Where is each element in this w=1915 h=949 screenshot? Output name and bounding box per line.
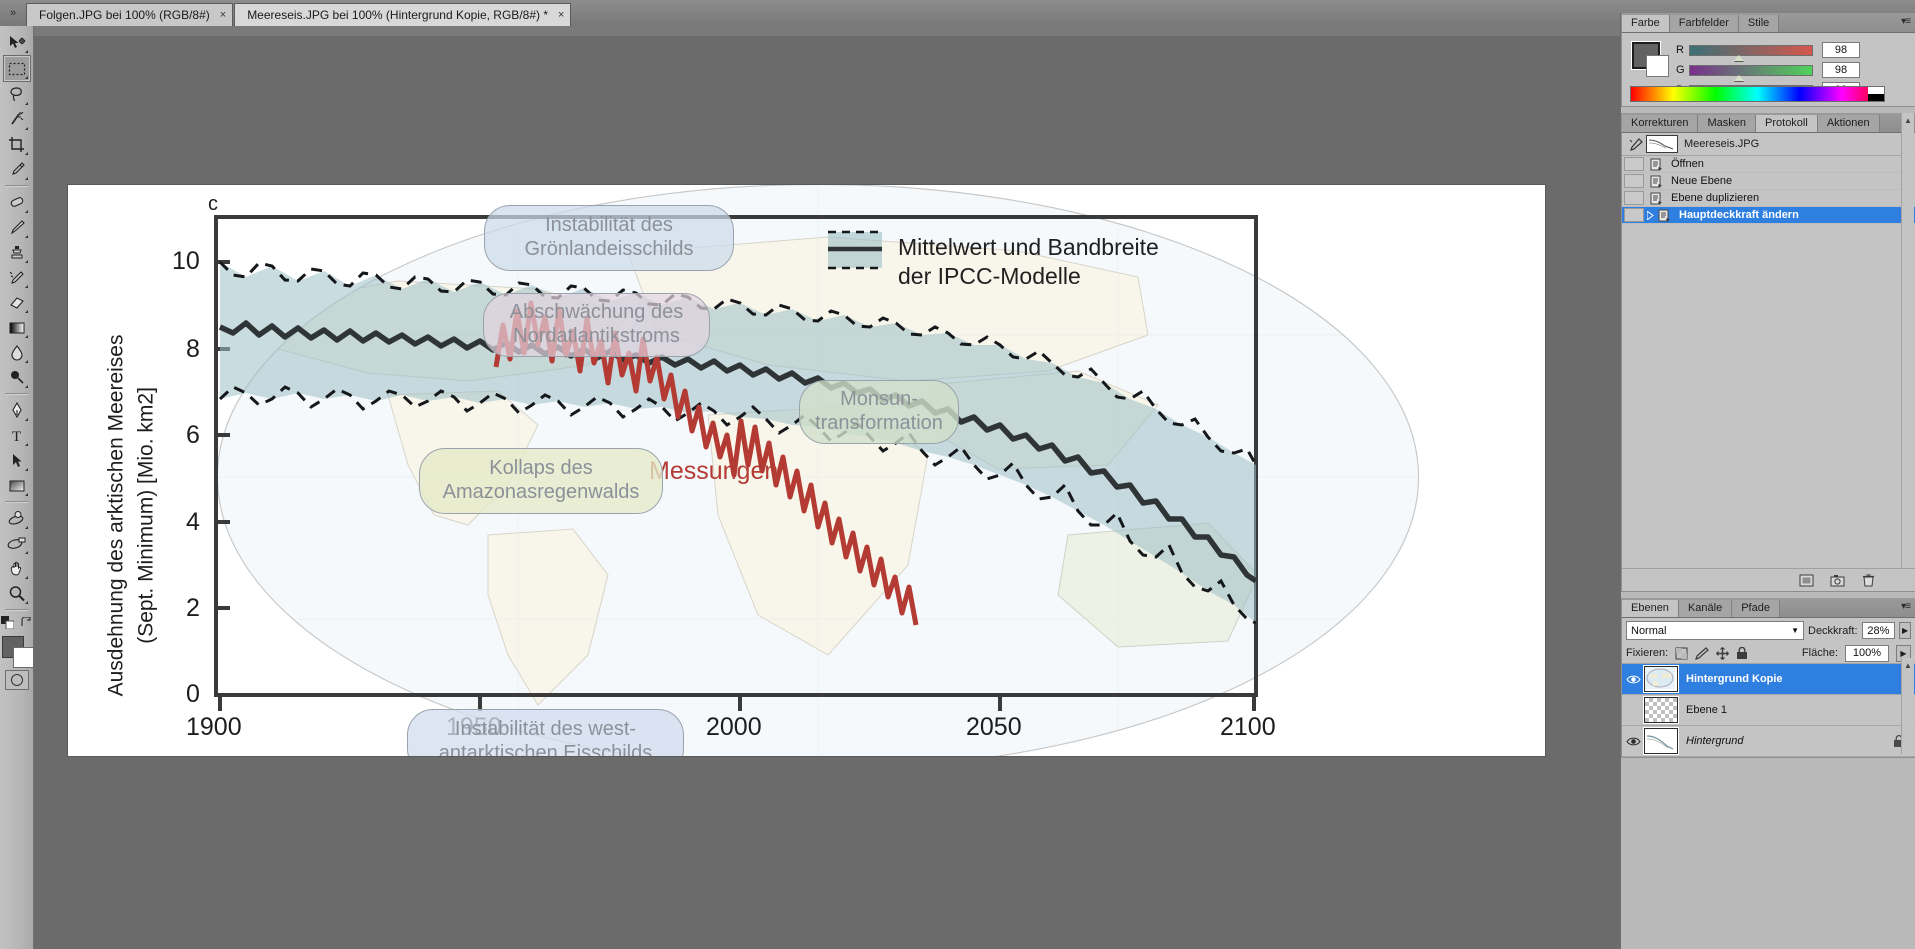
- toolbar-divider: [5, 393, 28, 395]
- y-tick-10: 10: [172, 247, 200, 276]
- x-axis-label: Jahr: [736, 753, 783, 756]
- bubble-line2: Nordatlantikstroms: [510, 325, 683, 349]
- type-tool[interactable]: T: [4, 423, 30, 448]
- lock-image-pixels-icon[interactable]: [1695, 647, 1709, 660]
- lock-transparency-icon[interactable]: [1675, 647, 1688, 660]
- chevron-down-icon[interactable]: ▼: [1791, 626, 1799, 635]
- panel-menu-icon[interactable]: ▾≡: [1901, 16, 1910, 27]
- measurements-annotation: Messungen: [649, 457, 778, 486]
- collapse-panels-icon[interactable]: »: [0, 0, 26, 26]
- g-value[interactable]: 98: [1822, 62, 1860, 78]
- history-brush-source-icon[interactable]: [1626, 138, 1646, 151]
- blend-mode-select[interactable]: Normal ▼: [1626, 621, 1804, 640]
- panel-menu-icon[interactable]: ▾≡: [1901, 601, 1910, 612]
- hand-tool[interactable]: [4, 556, 30, 581]
- history-source-checkbox[interactable]: [1624, 174, 1644, 188]
- figure-svg: [68, 185, 1545, 756]
- history-brush-tool[interactable]: [4, 265, 30, 290]
- g-slider[interactable]: [1689, 65, 1813, 76]
- right-dock: Farbe Farbfelder Stile ▾≡ R 98 G: [1620, 13, 1915, 949]
- layers-panel-tabs: Ebenen Kanäle Pfade ▾≡: [1622, 598, 1915, 618]
- y-tick-0: 0: [186, 680, 200, 709]
- x-tick-1900: 1900: [186, 713, 242, 742]
- r-value[interactable]: 98: [1822, 42, 1860, 58]
- tab-farbe[interactable]: Farbe: [1622, 15, 1670, 32]
- history-snapshot-row[interactable]: Meereseis.JPG: [1622, 133, 1915, 156]
- blur-tool[interactable]: [4, 340, 30, 365]
- zoom-tool[interactable]: [4, 581, 30, 606]
- shape-tool[interactable]: [4, 473, 30, 498]
- pen-tool[interactable]: [4, 398, 30, 423]
- chart-legend: [828, 232, 882, 268]
- fill-value[interactable]: 100%: [1845, 645, 1889, 662]
- current-state-marker-icon: [1646, 211, 1654, 220]
- history-panel: Korrekturen Masken Protokoll Aktionen ▾≡…: [1621, 113, 1915, 592]
- layer-row-hintergrund[interactable]: Hintergrund: [1622, 726, 1915, 757]
- bubble-line1: Monsun-: [815, 388, 943, 412]
- canvas-top-strip: [34, 26, 1620, 36]
- snapshot-thumbnail: [1646, 135, 1678, 153]
- close-icon[interactable]: ×: [220, 4, 226, 26]
- create-snapshot-icon[interactable]: [1830, 574, 1846, 587]
- history-item-label: Neue Ebene: [1671, 175, 1732, 187]
- fill-label: Fläche:: [1802, 647, 1838, 659]
- history-scrollbar[interactable]: ▲ ▼: [1901, 113, 1914, 591]
- toolbar-divider: [5, 501, 28, 503]
- swap-colors-icon: [20, 617, 33, 628]
- y-axis-label-line2: (Sept. Minimum) [Mio. km2]: [132, 255, 162, 756]
- channel-label: R: [1676, 44, 1689, 56]
- color-panel: Farbe Farbfelder Stile ▾≡ R 98 G: [1621, 13, 1915, 107]
- tab-protokoll[interactable]: Protokoll: [1756, 115, 1818, 132]
- color-panel-swatches[interactable]: [1632, 42, 1666, 74]
- bubble-line2: antarktischen Eisschilds: [439, 742, 652, 756]
- svg-text:T: T: [12, 429, 21, 444]
- history-item-label: Ebene duplizieren: [1671, 192, 1759, 204]
- x-tick-2000: 2000: [706, 713, 762, 742]
- lock-position-icon[interactable]: [1716, 647, 1729, 660]
- tab-ebenen[interactable]: Ebenen: [1622, 600, 1679, 617]
- edit-in-quick-mask-mode-icon[interactable]: [5, 670, 29, 690]
- eraser-tool[interactable]: [4, 290, 30, 315]
- move-tool[interactable]: [4, 30, 30, 55]
- dodge-tool[interactable]: [4, 365, 30, 390]
- tab-pfade[interactable]: Pfade: [1732, 600, 1780, 617]
- color-channel-r: R 98: [1676, 40, 1907, 60]
- default-colors-icon: [1, 616, 14, 629]
- history-state-icon: [1646, 175, 1666, 188]
- background-swatch[interactable]: [1646, 55, 1669, 77]
- tab-aktionen[interactable]: Aktionen: [1818, 115, 1880, 132]
- blend-mode-value: Normal: [1631, 625, 1666, 637]
- y-tick-8: 8: [186, 335, 200, 364]
- layer-name: Ebene 1: [1686, 704, 1727, 716]
- layers-scrollbar[interactable]: ▲: [1901, 658, 1914, 754]
- scroll-up-arrow-icon[interactable]: ▲: [1902, 661, 1914, 670]
- delete-state-icon[interactable]: [1862, 573, 1875, 587]
- tipping-point-amazon[interactable]: Kollaps des Amazonasregenwalds: [419, 448, 663, 514]
- layer-thumbnail: [1644, 728, 1678, 754]
- r-slider[interactable]: [1689, 45, 1813, 56]
- toolbar-divider: [5, 609, 28, 611]
- layer-name: Hintergrund Kopie: [1686, 673, 1783, 685]
- photoshop-window: » Folgen.JPG bei 100% (RGB/8#) × Meerese…: [0, 0, 1915, 949]
- color-panel-body: R 98 G 98 B 98: [1622, 33, 1915, 106]
- opacity-value[interactable]: 28%: [1862, 622, 1896, 639]
- bubble-line1: Kollaps des: [443, 457, 640, 481]
- bubble-line1: Instabilität des: [525, 214, 694, 238]
- lock-label: Fixieren:: [1626, 647, 1668, 659]
- legend-label-line1: Mittelwert und Bandbreite: [898, 233, 1159, 262]
- document-tab-label: Meereseis.JPG bei 100% (Hintergrund Kopi…: [247, 4, 548, 26]
- 3d-camera-tool[interactable]: [4, 531, 30, 556]
- background-color-swatch[interactable]: [13, 647, 34, 668]
- layers-blend-row: Normal ▼ Deckkraft: 28% ▶: [1622, 618, 1915, 643]
- tools-panel: T: [0, 26, 34, 949]
- x-tick-2100: 2100: [1220, 713, 1276, 742]
- document-tab-folgen[interactable]: Folgen.JPG bei 100% (RGB/8#) ×: [26, 3, 233, 26]
- gradient-tool[interactable]: [4, 315, 30, 340]
- bubble-line1: Abschwächung des: [510, 301, 683, 325]
- magic-wand-tool[interactable]: [4, 107, 30, 132]
- layer-thumbnail: [1644, 666, 1678, 692]
- healing-brush-tool[interactable]: [4, 190, 30, 215]
- layer-visibility-toggle[interactable]: [1622, 736, 1644, 747]
- lasso-tool[interactable]: [4, 82, 30, 107]
- figure-sea-ice-extent: c Ausdehnung des arktischen Meereises (S…: [68, 185, 1545, 756]
- crop-tool[interactable]: [4, 132, 30, 157]
- history-item-label: Hauptdeckkraft ändern: [1679, 209, 1799, 221]
- history-state-icon: [1646, 158, 1666, 171]
- channel-label: G: [1676, 64, 1689, 76]
- y-tick-2: 2: [186, 594, 200, 623]
- tipping-point-greenland[interactable]: Instabilität des Grönlandeisschilds: [484, 205, 734, 271]
- color-channel-g: G 98: [1676, 60, 1907, 80]
- bubble-line2: Amazonasregenwalds: [443, 481, 640, 505]
- layers-panel: Ebenen Kanäle Pfade ▾≡ Normal ▼ Deckkraf…: [1621, 598, 1915, 758]
- history-item-label: Öffnen: [1671, 158, 1704, 170]
- document-canvas[interactable]: c Ausdehnung des arktischen Meereises (S…: [68, 185, 1545, 756]
- history-source-checkbox[interactable]: [1624, 191, 1644, 205]
- rectangular-marquee-tool[interactable]: [3, 55, 31, 82]
- color-swatches[interactable]: [2, 636, 32, 666]
- tab-stile[interactable]: Stile: [1739, 15, 1779, 32]
- clone-stamp-tool[interactable]: [4, 240, 30, 265]
- color-spectrum-ramp[interactable]: [1630, 86, 1885, 102]
- history-item-hauptdeckkraft-aendern[interactable]: Hauptdeckkraft ändern: [1622, 207, 1915, 224]
- y-tick-4: 4: [186, 508, 200, 537]
- tab-farbfelder[interactable]: Farbfelder: [1670, 15, 1739, 32]
- x-tick-2050: 2050: [966, 713, 1022, 742]
- tipping-point-monsoon[interactable]: Monsun- transformation: [799, 380, 959, 444]
- document-tab-label: Folgen.JPG bei 100% (RGB/8#): [39, 4, 210, 26]
- tipping-point-amoc[interactable]: Abschwächung des Nordatlantikstroms: [483, 293, 710, 357]
- canvas-area: c Ausdehnung des arktischen Meereises (S…: [34, 26, 1620, 949]
- opacity-stepper[interactable]: ▶: [1899, 622, 1911, 639]
- layer-visibility-toggle[interactable]: [1622, 674, 1644, 685]
- bubble-line2: transformation: [815, 412, 943, 436]
- create-document-from-state-icon[interactable]: [1799, 574, 1814, 587]
- path-selection-tool[interactable]: [4, 448, 30, 473]
- bubble-line1: Instabilität des west-: [439, 718, 652, 742]
- layer-row-ebene-1[interactable]: Ebene 1: [1622, 695, 1915, 726]
- y-axis-label-line1: Ausdehnung des arktischen Meereises: [102, 255, 132, 756]
- history-source-checkbox[interactable]: [1624, 157, 1644, 171]
- document-tab-meereseis[interactable]: Meereseis.JPG bei 100% (Hintergrund Kopi…: [234, 3, 571, 26]
- eyedropper-tool[interactable]: [4, 157, 30, 182]
- layer-name: Hintergrund: [1686, 735, 1743, 747]
- history-source-checkbox[interactable]: [1624, 208, 1644, 222]
- lock-all-icon[interactable]: [1736, 647, 1748, 660]
- layer-thumbnail: [1644, 697, 1678, 723]
- history-state-icon: [1646, 192, 1666, 205]
- tab-korrekturen[interactable]: Korrekturen: [1622, 115, 1698, 132]
- layer-row-hintergrund-kopie[interactable]: Hintergrund Kopie: [1622, 664, 1915, 695]
- layers-lock-row: Fixieren: Fläche: 100% ▶: [1622, 643, 1915, 664]
- history-panel-footer: [1622, 568, 1915, 591]
- tab-masken[interactable]: Masken: [1698, 115, 1756, 132]
- history-state-icon: [1654, 209, 1674, 222]
- 3d-rotate-tool[interactable]: [4, 506, 30, 531]
- bubble-line2: Grönlandeisschilds: [525, 238, 694, 262]
- close-icon[interactable]: ×: [558, 4, 564, 26]
- brush-tool[interactable]: [4, 215, 30, 240]
- tab-kanaele[interactable]: Kanäle: [1679, 600, 1732, 617]
- y-axis-label: Ausdehnung des arktischen Meereises (Sep…: [102, 255, 163, 756]
- color-panel-tabs: Farbe Farbfelder Stile ▾≡: [1622, 13, 1915, 33]
- snapshot-label: Meereseis.JPG: [1684, 138, 1759, 150]
- y-tick-6: 6: [186, 421, 200, 450]
- panel-label-c: c: [208, 193, 218, 216]
- tipping-point-wais[interactable]: Instabilität des west- antarktischen Eis…: [407, 709, 684, 756]
- legend-label-line2: der IPCC-Modelle: [898, 262, 1159, 291]
- history-item-oeffnen[interactable]: Öffnen: [1622, 156, 1915, 173]
- toolbar-divider: [5, 185, 28, 187]
- legend-label: Mittelwert und Bandbreite der IPCC-Model…: [898, 233, 1159, 291]
- opacity-label: Deckkraft:: [1808, 625, 1858, 637]
- scroll-up-arrow-icon[interactable]: ▲: [1902, 116, 1914, 125]
- history-item-neue-ebene[interactable]: Neue Ebene: [1622, 173, 1915, 190]
- history-item-ebene-duplizieren[interactable]: Ebene duplizieren: [1622, 190, 1915, 207]
- history-panel-tabs: Korrekturen Masken Protokoll Aktionen ▾≡: [1622, 113, 1915, 133]
